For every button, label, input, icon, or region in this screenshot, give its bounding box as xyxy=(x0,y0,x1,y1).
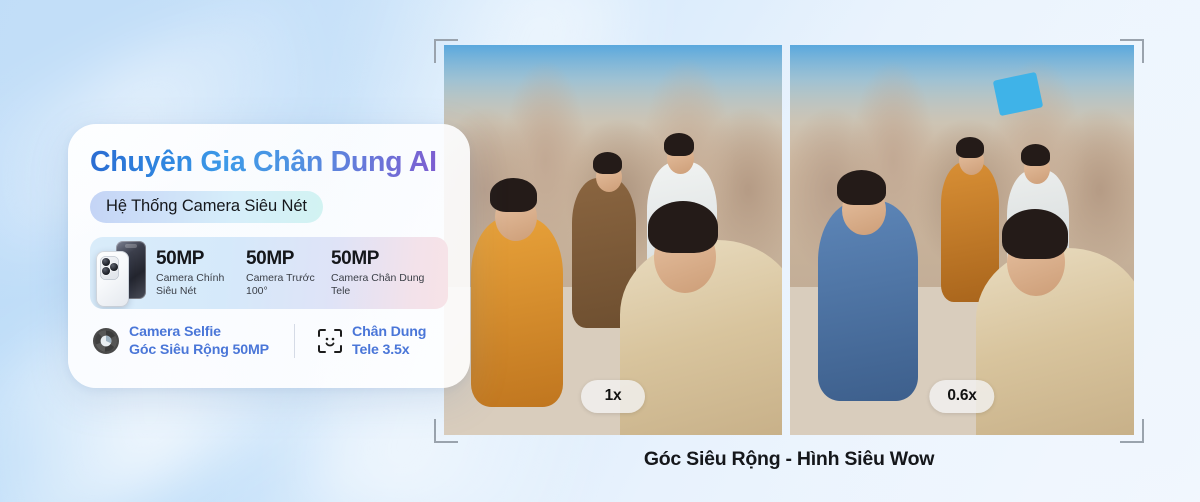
spec-item: 50MP Camera Chân Dung Tele xyxy=(331,248,441,299)
camera-lens-icon xyxy=(102,258,110,266)
corner-bracket-bottom-right xyxy=(1120,419,1144,443)
feature-selfie-camera: Camera Selfie Góc Siêu Rộng 50MP xyxy=(92,323,292,359)
spec-item: 50MP Camera Chính Siêu Nét xyxy=(156,248,246,299)
people-group xyxy=(790,45,1134,435)
gallery-caption: Góc Siêu Rộng - Hình Siêu Wow xyxy=(444,448,1134,471)
spec-label: Camera Chân Dung Tele xyxy=(331,272,431,300)
corner-bracket-top-right xyxy=(1120,39,1144,63)
photo-right[interactable]: 0.6x xyxy=(790,45,1134,435)
card-title: Chuyên Gia Chân Dung AI xyxy=(90,146,448,179)
camera-specs-band: 50MP Camera Chính Siêu Nét 50MP Camera T… xyxy=(90,237,448,309)
promo-banner: Chuyên Gia Chân Dung AI Hệ Thống Camera … xyxy=(0,0,1200,502)
foreground-person-hair xyxy=(1002,209,1068,259)
spec-item: 50MP Camera Trước 100° xyxy=(246,248,331,299)
person-hair xyxy=(1021,144,1050,166)
feature-label: Camera Selfie Góc Siêu Rộng 50MP xyxy=(129,323,269,359)
camera-module-icon xyxy=(100,256,119,280)
spec-label: Camera Trước 100° xyxy=(246,272,321,300)
foreground-person-hair xyxy=(648,201,718,253)
photo-left[interactable]: 1x xyxy=(444,45,782,435)
zoom-badge-1x[interactable]: 1x xyxy=(581,380,645,413)
spec-value: 50MP xyxy=(156,248,236,269)
phone-back-view xyxy=(96,251,129,307)
blue-flag-prop xyxy=(993,72,1044,116)
corner-bracket-bottom-left xyxy=(434,419,458,443)
camera-lens-icon xyxy=(102,267,110,275)
person-hair xyxy=(837,170,886,205)
zoom-badge-06x[interactable]: 0.6x xyxy=(929,380,994,413)
feature-row: Camera Selfie Góc Siêu Rộng 50MP Chân Du… xyxy=(90,323,448,359)
phone-thumbnail-icon xyxy=(90,237,156,309)
aperture-icon xyxy=(92,327,120,355)
person-hair xyxy=(664,133,694,156)
feature-portrait-tele: Chân Dung Tele 3.5x xyxy=(295,323,426,359)
photo-gallery: 1x xyxy=(444,45,1134,435)
corner-bracket-top-left xyxy=(434,39,458,63)
spec-value: 50MP xyxy=(246,248,321,269)
spec-value: 50MP xyxy=(331,248,431,269)
camera-info-card: Chuyên Gia Chân Dung AI Hệ Thống Camera … xyxy=(68,124,470,388)
face-scan-icon xyxy=(317,328,343,354)
specs-list: 50MP Camera Chính Siêu Nét 50MP Camera T… xyxy=(156,246,441,299)
spec-label: Camera Chính Siêu Nét xyxy=(156,272,236,300)
camera-lens-icon xyxy=(110,263,118,271)
person-hair xyxy=(490,178,537,212)
people-group xyxy=(444,45,782,435)
person-figure xyxy=(471,217,563,407)
card-subtitle-pill: Hệ Thống Camera Siêu Nét xyxy=(90,191,323,223)
person-hair xyxy=(593,152,622,174)
person-hair xyxy=(956,137,984,158)
feature-label: Chân Dung Tele 3.5x xyxy=(352,323,426,359)
